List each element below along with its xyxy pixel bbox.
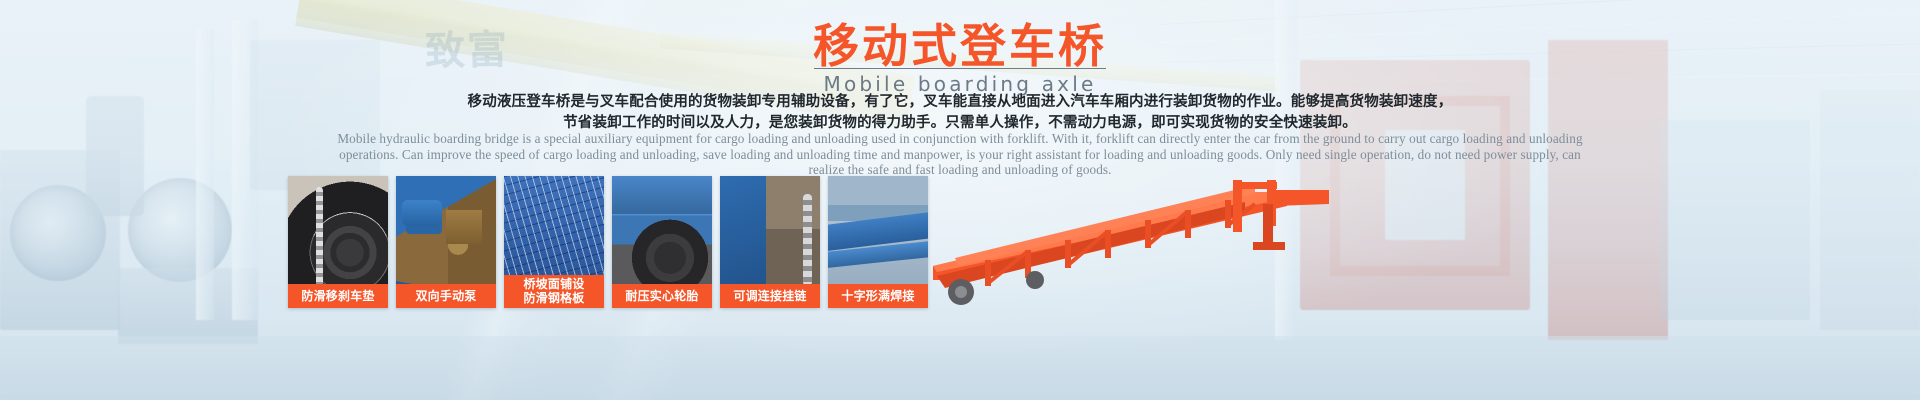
dock-ramp-product-image <box>915 180 1345 320</box>
feature-thumbnail-3[interactable]: 耐压实心轮胎 <box>612 176 712 308</box>
description-chinese: 移动液压登车桥是与叉车配合使用的货物装卸专用辅助设备，有了它，叉车能直接从地面进… <box>0 92 1920 134</box>
page-title: 移动式登车桥 <box>0 22 1920 72</box>
feature-thumbnail-1[interactable]: 双向手动泵 <box>396 176 496 308</box>
feature-caption-2-line-2: 防滑钢格板 <box>506 291 602 305</box>
description-chinese-line-1: 移动液压登车桥是与叉车配合使用的货物装卸专用辅助设备，有了它，叉车能直接从地面进… <box>0 92 1920 113</box>
product-banner: 致富 <box>0 0 1920 400</box>
feature-caption-0: 防滑移刹车垫 <box>288 284 388 308</box>
feature-caption-4: 可调连接挂链 <box>720 284 820 308</box>
feature-caption-3: 耐压实心轮胎 <box>612 284 712 308</box>
feature-thumbnail-4[interactable]: 可调连接挂链 <box>720 176 820 308</box>
feature-thumbnail-list: 防滑移刹车垫 双向手动泵 桥坡面铺设 防滑钢格板 耐压实心轮胎 可调连接挂链 十… <box>288 176 928 308</box>
feature-caption-2: 桥坡面铺设 防滑钢格板 <box>504 275 604 308</box>
description-english: Mobile hydraulic boarding bridge is a sp… <box>330 131 1590 178</box>
feature-caption-2-line-1: 桥坡面铺设 <box>506 277 602 291</box>
feature-caption-5: 十字形满焊接 <box>828 284 928 308</box>
feature-thumbnail-5[interactable]: 十字形满焊接 <box>828 176 928 308</box>
feature-thumbnail-2[interactable]: 桥坡面铺设 防滑钢格板 <box>504 176 604 308</box>
feature-thumbnail-0[interactable]: 防滑移刹车垫 <box>288 176 388 308</box>
feature-caption-1: 双向手动泵 <box>396 284 496 308</box>
headline-block: 移动式登车桥 Mobile boarding axle <box>0 22 1920 102</box>
